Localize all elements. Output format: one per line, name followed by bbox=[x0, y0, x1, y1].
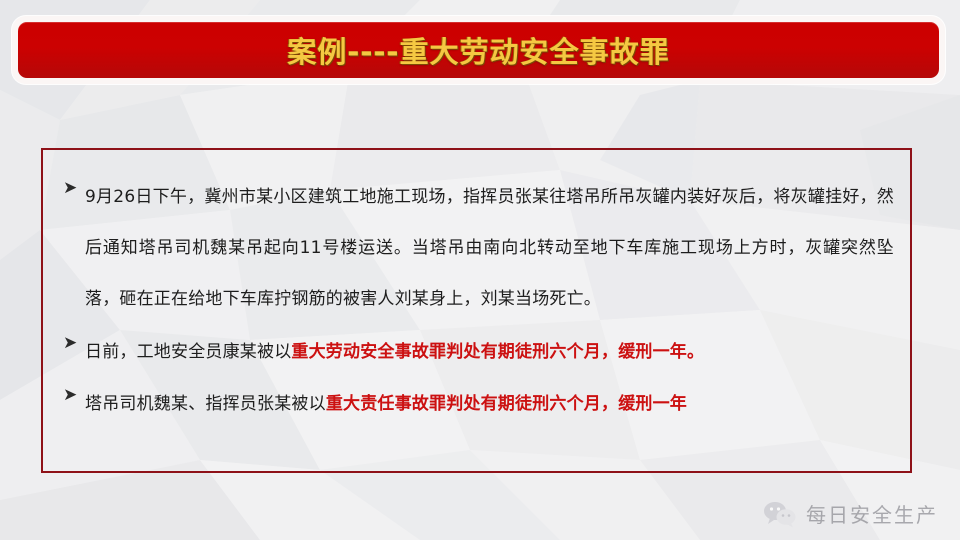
paragraph-segment: 9月26日下午，冀州市某小区建筑工地施工现场，指挥员张某往塔吊所吊灰罐内装好灰后… bbox=[85, 187, 894, 309]
list-item: ➤ 9月26日下午，冀州市某小区建筑工地施工现场，指挥员张某往塔吊所吊灰罐内装好… bbox=[59, 172, 894, 325]
title-banner: 案例----重大劳动安全事故罪 bbox=[18, 22, 939, 78]
paragraph-segment: 塔吊司机魏某、指挥员张某被以 bbox=[85, 394, 326, 414]
bullet-arrow-icon: ➤ bbox=[59, 327, 85, 359]
verdict-crane-operator-paragraph: 塔吊司机魏某、指挥员张某被以重大责任事故罪判处有期徒刑六个月，缓刑一年 bbox=[85, 379, 894, 429]
case-content-box: ➤ 9月26日下午，冀州市某小区建筑工地施工现场，指挥员张某往塔吊所吊灰罐内装好… bbox=[41, 148, 912, 473]
bullet-arrow-icon: ➤ bbox=[59, 379, 85, 411]
list-item: ➤ 塔吊司机魏某、指挥员张某被以重大责任事故罪判处有期徒刑六个月，缓刑一年 bbox=[59, 379, 894, 429]
wechat-icon bbox=[763, 500, 797, 528]
bullet-arrow-icon: ➤ bbox=[59, 172, 85, 204]
paragraph-segment: 日前，工地安全员康某被以 bbox=[85, 342, 291, 362]
title-banner-frame: 案例----重大劳动安全事故罪 bbox=[12, 16, 945, 84]
list-item: ➤ 日前，工地安全员康某被以重大劳动安全事故罪判处有期徒刑六个月，缓刑一年。 bbox=[59, 327, 894, 377]
page-title: 案例----重大劳动安全事故罪 bbox=[287, 29, 669, 71]
paragraph-segment-highlight: 重大劳动安全事故罪判处有期徒刑六个月，缓刑一年。 bbox=[291, 342, 704, 362]
verdict-safety-officer-paragraph: 日前，工地安全员康某被以重大劳动安全事故罪判处有期徒刑六个月，缓刑一年。 bbox=[85, 327, 894, 377]
case-description-paragraph: 9月26日下午，冀州市某小区建筑工地施工现场，指挥员张某往塔吊所吊灰罐内装好灰后… bbox=[85, 172, 894, 325]
paragraph-segment-highlight: 重大责任事故罪判处有期徒刑六个月，缓刑一年 bbox=[326, 394, 687, 414]
footer-watermark: 每日安全生产 bbox=[763, 499, 938, 528]
footer-account-name: 每日安全生产 bbox=[806, 499, 938, 528]
